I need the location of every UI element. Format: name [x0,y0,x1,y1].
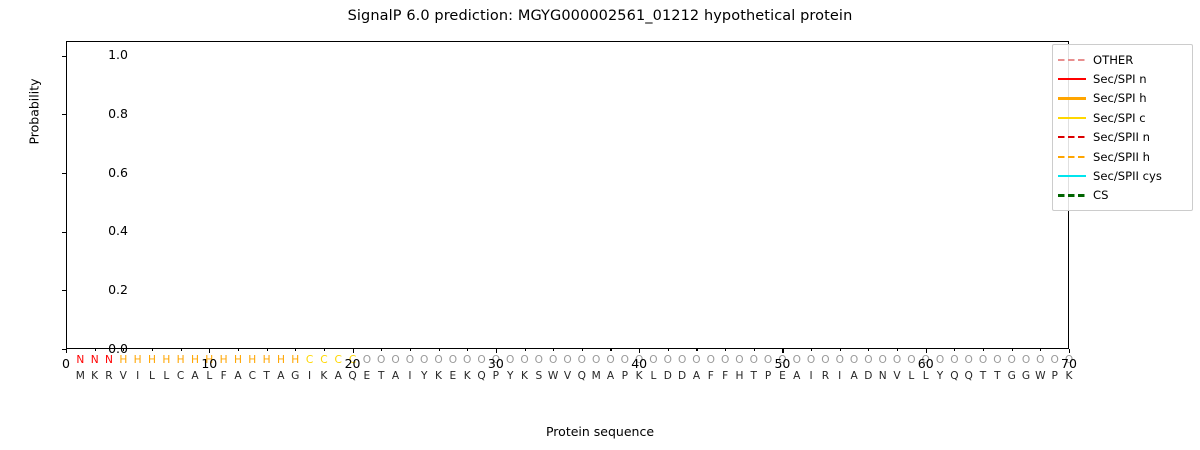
legend-swatch [1058,92,1086,104]
region-label-cell: O [575,353,588,368]
x-axis-tick-mark [381,349,382,351]
x-axis-tick-mark [525,349,526,351]
legend-item-sec-spi-c[interactable]: Sec/SPI c [1058,108,1187,127]
amino-acid-cell: H [733,369,746,384]
x-axis-tick-mark [696,349,697,351]
amino-acid-cell: S [532,369,545,384]
region-label-cell: O [805,353,818,368]
x-axis-tick-mark [152,349,153,351]
amino-acid-cell: L [145,369,158,384]
region-label-cell: O [375,353,388,368]
x-axis-tick-mark [639,349,640,353]
amino-acid-cell: F [719,369,732,384]
amino-acid-cell: C [246,369,259,384]
x-axis-tick-mark [353,349,354,353]
y-axis-tick-mark [62,290,66,291]
region-label-cell: O [547,353,560,368]
y-axis-tick-mark [62,56,66,57]
region-label-cell: O [389,353,402,368]
amino-acid-cell: L [919,369,932,384]
y-axis-tick-label: 0.2 [68,282,128,297]
x-axis-label: Protein sequence [0,424,1200,439]
legend-label: Sec/SPII n [1093,130,1150,144]
x-axis-tick-mark [582,349,583,351]
x-axis-tick-label: 50 [762,356,802,371]
region-label-cell: O [819,353,832,368]
legend-item-sec-spii-n[interactable]: Sec/SPII n [1058,128,1187,147]
amino-acid-cell: L [203,369,216,384]
region-label-cell: O [532,353,545,368]
amino-acid-cell: Q [575,369,588,384]
legend-swatch [1058,151,1086,163]
amino-acid-cell: C [174,369,187,384]
region-label-cell: H [246,353,259,368]
amino-acid-cell: D [661,369,674,384]
x-axis-tick-mark [868,349,869,351]
x-axis-tick-mark [1040,349,1041,351]
amino-acid-cell: T [375,369,388,384]
x-axis-tick-mark [467,349,468,351]
amino-acid-cell: D [676,369,689,384]
region-label-cell: O [876,353,889,368]
amino-acid-cell: I [805,369,818,384]
amino-acid-cell: F [704,369,717,384]
amino-acid-cell: I [833,369,846,384]
x-axis-tick-label: 20 [333,356,373,371]
amino-acid-cell: L [905,369,918,384]
amino-acid-cell: P [762,369,775,384]
amino-acid-cell: G [1005,369,1018,384]
region-label-cell: O [719,353,732,368]
region-label-cell: H [160,353,173,368]
amino-acid-cell: A [690,369,703,384]
legend-label: CS [1093,188,1108,202]
x-axis-tick-mark [295,349,296,351]
x-axis-tick-mark [209,349,210,353]
region-label-cell: O [977,353,990,368]
region-label-cell: O [848,353,861,368]
amino-acid-cell: K [518,369,531,384]
amino-acid-cell: P [489,369,502,384]
amino-acid-cell: W [547,369,560,384]
region-label-cell: O [962,353,975,368]
x-axis-tick-mark [668,349,669,351]
region-label-cell: H [260,353,273,368]
region-label-cell: C [303,353,316,368]
legend-label: OTHER [1093,53,1133,67]
x-axis-tick-mark [954,349,955,351]
amino-acid-cell: T [260,369,273,384]
legend-swatch [1058,112,1086,124]
y-axis-tick-label: 0.6 [68,165,128,180]
region-label-cell: O [1034,353,1047,368]
amino-acid-cell: M [74,369,87,384]
region-label-cell: O [862,353,875,368]
amino-acid-cell: K [461,369,474,384]
region-label-cell: O [676,353,689,368]
x-axis-tick-label: 30 [476,356,516,371]
amino-acid-cell: W [1034,369,1047,384]
legend-label: Sec/SPI c [1093,111,1146,125]
amino-acid-sequence-row: MKRVILLCALFACTAGIKAQETAIYKEKQPYKSWVQMAPK… [66,369,1069,384]
region-label-cell: O [733,353,746,368]
amino-acid-cell: L [160,369,173,384]
amino-acid-cell: I [131,369,144,384]
legend-item-sec-spii-h[interactable]: Sec/SPII h [1058,147,1187,166]
region-label-cell: H [289,353,302,368]
legend-item-other[interactable]: OTHER [1058,50,1187,69]
amino-acid-cell: V [561,369,574,384]
amino-acid-cell: I [403,369,416,384]
region-label-cell: O [590,353,603,368]
legend-swatch [1058,73,1086,85]
amino-acid-cell: K [432,369,445,384]
amino-acid-cell: E [776,369,789,384]
amino-acid-cell: F [217,369,230,384]
y-axis-tick-label: 0.0 [68,341,128,356]
amino-acid-cell: N [876,369,889,384]
y-axis-tick-mark [62,232,66,233]
region-label-cell: O [1005,353,1018,368]
region-label-cell: O [704,353,717,368]
x-axis-tick-mark [1012,349,1013,351]
x-axis-tick-mark [754,349,755,351]
region-label-cell: O [403,353,416,368]
amino-acid-cell: A [332,369,345,384]
region-label-cell: O [461,353,474,368]
x-axis-tick-mark [926,349,927,353]
region-label-cell: H [274,353,287,368]
amino-acid-cell: D [862,369,875,384]
x-axis-tick-mark [410,349,411,351]
amino-acid-cell: Y [418,369,431,384]
region-label-cell: H [231,353,244,368]
y-axis-tick-mark [62,173,66,174]
amino-acid-cell: P [1048,369,1061,384]
x-axis-tick-mark [95,349,96,351]
amino-acid-cell: G [1020,369,1033,384]
amino-acid-cell: A [231,369,244,384]
amino-acid-cell: R [819,369,832,384]
legend-label: Sec/SPI n [1093,72,1147,86]
x-axis-tick-label: 70 [1049,356,1089,371]
amino-acid-cell: P [618,369,631,384]
legend-label: Sec/SPII h [1093,150,1150,164]
x-axis-tick-mark [725,349,726,351]
amino-acid-cell: Y [504,369,517,384]
x-axis-tick-label: 10 [189,356,229,371]
amino-acid-cell: A [790,369,803,384]
amino-acid-cell: A [274,369,287,384]
amino-acid-cell: Q [346,369,359,384]
x-axis-tick-mark [439,349,440,351]
amino-acid-cell: V [891,369,904,384]
amino-acid-cell: V [117,369,130,384]
region-label-cell: H [131,353,144,368]
legend-label: Sec/SPII cys [1093,169,1162,183]
y-axis-tick-label: 1.0 [68,47,128,62]
legend-swatch [1058,189,1086,201]
amino-acid-cell: K [317,369,330,384]
amino-acid-cell: K [633,369,646,384]
amino-acid-cell: A [848,369,861,384]
x-axis-tick-mark [267,349,268,351]
x-axis-tick-mark [983,349,984,351]
region-label-cell: O [518,353,531,368]
x-axis-tick-label: 0 [46,356,86,371]
legend-item-cs[interactable]: CS [1058,186,1187,205]
region-label-cell: O [948,353,961,368]
region-label-cell: O [604,353,617,368]
amino-acid-cell: I [303,369,316,384]
legend-swatch [1058,170,1086,182]
region-label-cell: O [891,353,904,368]
y-axis-tick-mark [62,114,66,115]
legend-item-sec-spii-cys[interactable]: Sec/SPII cys [1058,166,1187,185]
amino-acid-cell: E [360,369,373,384]
legend-swatch [1058,131,1086,143]
legend-item-sec-spi-h[interactable]: Sec/SPI h [1058,89,1187,108]
region-label-cell: O [747,353,760,368]
legend-swatch [1058,54,1086,66]
x-axis-tick-label: 40 [619,356,659,371]
amino-acid-cell: Q [948,369,961,384]
region-label-cell: O [446,353,459,368]
legend-item-sec-spi-n[interactable]: Sec/SPI n [1058,69,1187,88]
region-label-cell: O [661,353,674,368]
x-axis-tick-mark [1069,349,1070,353]
region-label-cell: O [418,353,431,368]
legend-label: Sec/SPI h [1093,91,1147,105]
amino-acid-cell: Y [934,369,947,384]
x-axis-tick-mark [238,349,239,351]
x-axis-tick-mark [123,349,124,351]
x-axis-tick-mark [324,349,325,351]
x-axis-tick-mark [840,349,841,351]
amino-acid-cell: T [991,369,1004,384]
amino-acid-cell: T [747,369,760,384]
y-axis-tick-label: 0.8 [68,106,128,121]
amino-acid-cell: Q [475,369,488,384]
region-label-cell: O [991,353,1004,368]
amino-acid-cell: T [977,369,990,384]
region-label-cell: O [432,353,445,368]
legend[interactable]: OTHERSec/SPI nSec/SPI hSec/SPI cSec/SPII… [1052,44,1193,211]
amino-acid-cell: L [647,369,660,384]
x-axis-tick-mark [897,349,898,351]
amino-acid-cell: R [102,369,115,384]
amino-acid-cell: M [590,369,603,384]
x-axis-tick-mark [610,349,611,351]
region-label-cell: O [561,353,574,368]
signalp-prediction-figure: SignalP 6.0 prediction: MGYG000002561_01… [0,0,1200,450]
amino-acid-cell: E [446,369,459,384]
chart-title: SignalP 6.0 prediction: MGYG000002561_01… [0,8,1200,24]
amino-acid-cell: Q [962,369,975,384]
plot-border [66,41,1069,349]
amino-acid-cell: A [389,369,402,384]
amino-acid-cell: K [88,369,101,384]
region-label-cell: O [833,353,846,368]
x-axis-tick-mark [782,349,783,353]
amino-acid-cell: G [289,369,302,384]
amino-acid-cell: A [188,369,201,384]
region-label-cell: H [174,353,187,368]
y-axis-label: Probability [27,32,42,192]
x-axis-tick-mark [811,349,812,351]
region-label-cell: O [1020,353,1033,368]
region-label-cell: O [690,353,703,368]
x-axis-tick-mark [181,349,182,351]
region-label-cell: H [145,353,158,368]
y-axis-tick-label: 0.4 [68,223,128,238]
x-axis-tick-mark [553,349,554,351]
plot-area [66,41,1069,349]
x-axis-tick-label: 60 [906,356,946,371]
region-label-cell: C [317,353,330,368]
x-axis-tick-mark [496,349,497,353]
amino-acid-cell: A [604,369,617,384]
x-axis-tick-mark [66,349,67,353]
amino-acid-cell: K [1063,369,1076,384]
